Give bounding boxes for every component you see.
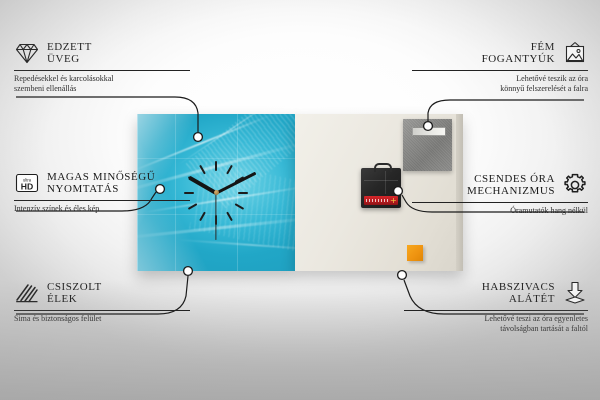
mechanism-seam [364,180,398,181]
picture-hanger-icon [562,40,588,66]
polished-edges-icon [14,280,40,306]
callout-head: EDZETT ÜVEG [14,40,190,66]
callout-foam-pad: HABSZIVACS ALÁTÉT Lehetővé teszi az óra … [404,280,588,334]
battery-label [366,199,388,202]
callout-title: HABSZIVACS ALÁTÉT [482,281,555,306]
quartz-clock-mechanism: + [361,168,401,208]
svg-text:HD: HD [21,181,33,191]
ultra-hd-icon: ultra HD [14,170,40,196]
callout-rule [14,200,190,201]
diamond-icon [14,40,40,66]
battery-plus-terminal: + [390,197,396,204]
mechanism-hook [374,163,392,172]
foam-pad-arrow-icon [562,280,588,306]
aa-battery: + [364,196,398,205]
mechanism-seam [385,171,386,194]
metal-hanger-plate [403,119,452,171]
callout-description: Intenzív színek és éles kép [14,204,190,214]
callout-head: CSISZOLT ÉLEK [14,280,190,306]
callout-description: Óramutatók hang nélkül [412,206,588,216]
callout-title: CSISZOLT ÉLEK [47,281,102,306]
callout-description: Repedésekkel és karcolásokkal szembeni e… [14,74,190,94]
callout-description: Lehetővé teszik az óra könnyű felszerelé… [412,74,588,94]
callout-head: ultra HD MAGAS MINŐSÉGŰ NYOMTATÁS [14,170,190,196]
callout-high-quality-print: ultra HD MAGAS MINŐSÉGŰ NYOMTATÁS Intenz… [14,170,190,214]
hanger-keyhole-slot [412,127,446,136]
callout-rule [14,310,190,311]
callout-title: MAGAS MINŐSÉGŰ NYOMTATÁS [47,171,155,196]
callout-rule [14,70,190,71]
callout-head: FÉM FOGANTYÚK [412,40,588,66]
callout-tempered-glass: EDZETT ÜVEG Repedésekkel és karcolásokka… [14,40,190,94]
clock-center-cap [214,190,219,195]
callout-head: CSENDES ÓRA MECHANIZMUS [412,172,588,198]
callout-description: Lehetővé teszi az óra egyenletes távolsá… [404,314,588,334]
callout-polished-edges: CSISZOLT ÉLEK Sima és biztonságos felüle… [14,280,190,324]
gear-icon [562,172,588,198]
callout-rule [404,310,588,311]
callout-description: Sima és biztonságos felület [14,314,190,324]
callout-silent-mechanism: CSENDES ÓRA MECHANIZMUS Óramutatók hang … [412,172,588,216]
callout-rule [412,202,588,203]
foam-spacer-pad [407,245,423,261]
panel-gridline [137,158,295,159]
callout-rule [412,70,588,71]
connector-node-foam [398,271,407,280]
callout-title: FÉM FOGANTYÚK [482,41,555,66]
callout-title: CSENDES ÓRA MECHANIZMUS [467,173,555,198]
callout-title: EDZETT ÜVEG [47,41,92,66]
infographic-canvas: + [0,0,600,400]
callout-head: HABSZIVACS ALÁTÉT [404,280,588,306]
callout-metal-handles: FÉM FOGANTYÚK Lehetővé teszik az óra kön… [412,40,588,94]
